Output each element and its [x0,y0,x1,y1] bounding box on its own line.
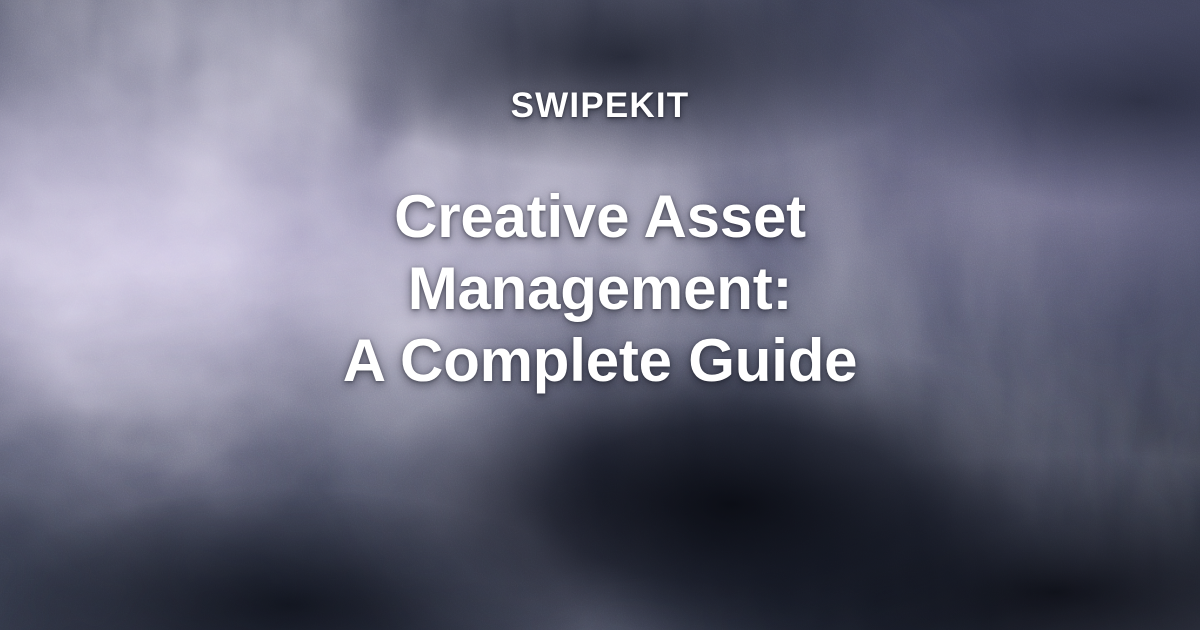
brand-logo: SWIPEKIT [511,88,690,123]
og-share-card: SWIPEKIT Creative Asset Management: A Co… [0,0,1200,630]
page-title: Creative Asset Management: A Complete Gu… [100,181,1100,397]
card-content: SWIPEKIT Creative Asset Management: A Co… [0,0,1200,630]
page-title-line-3: A Complete Guide [100,325,1100,397]
page-title-line-2: Management: [100,253,1100,325]
page-title-line-1: Creative Asset [100,181,1100,253]
